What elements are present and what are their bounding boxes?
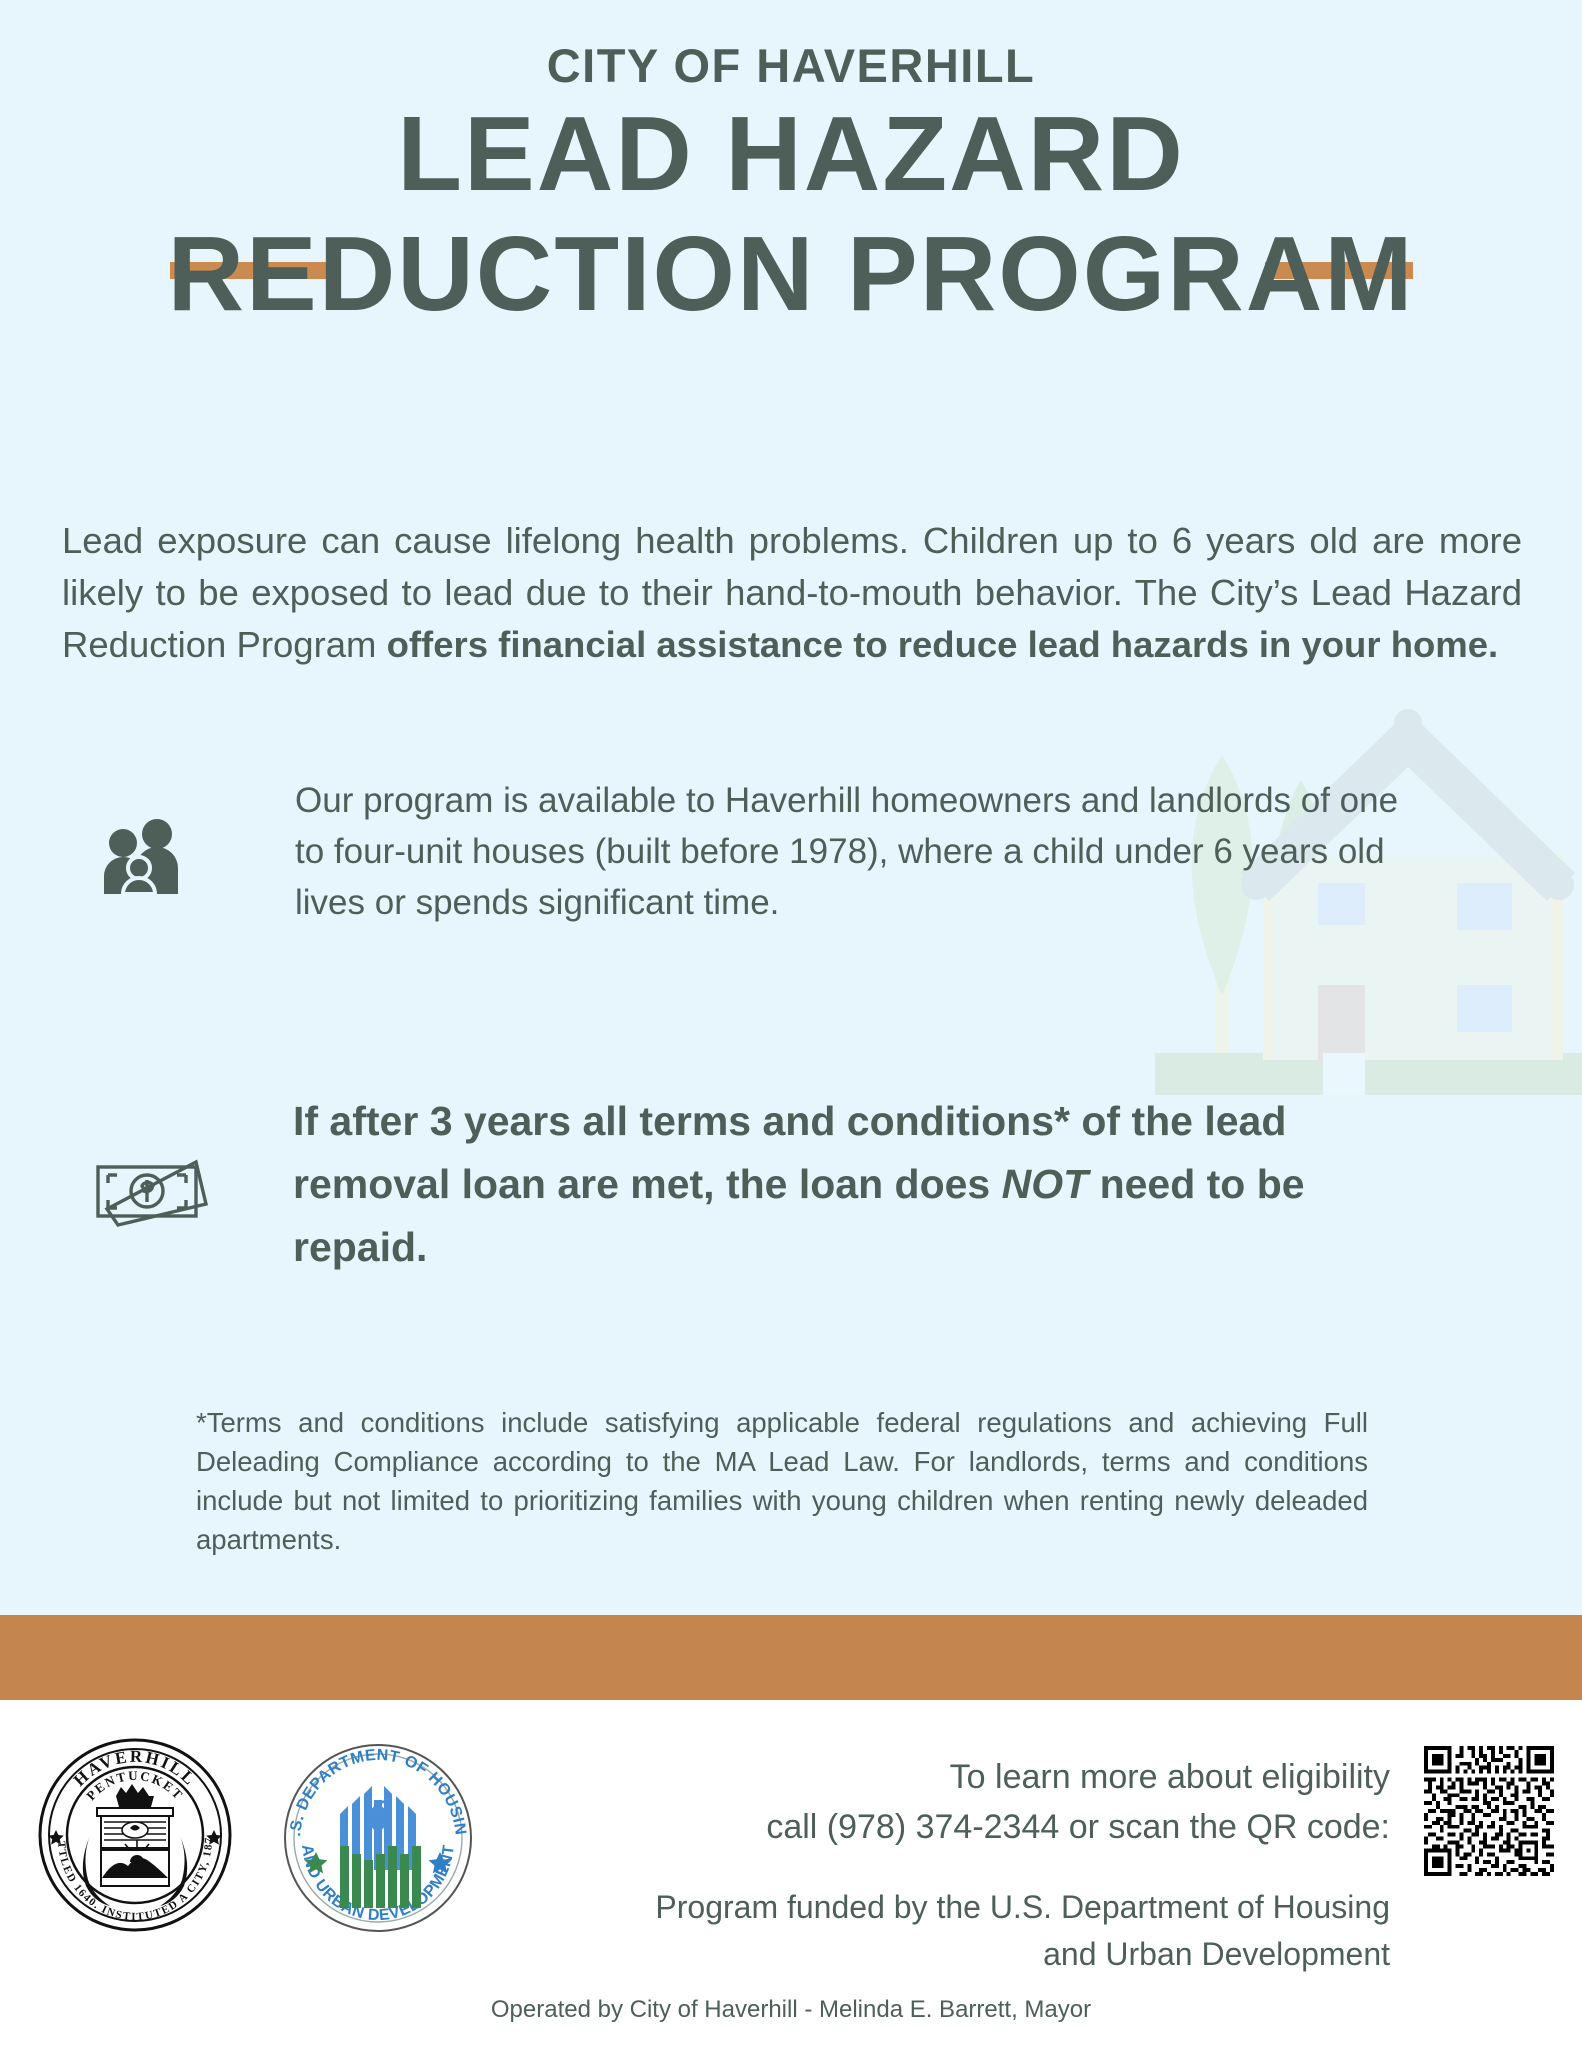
- hud-seal: U.S. DEPARTMENT OF HOUSING AND URBAN DEV…: [282, 1742, 474, 1934]
- haverhill-city-seal: HAVERHILL PENTUCKET SETTLED 1640. INSTIT…: [38, 1738, 232, 1932]
- loan-callout-text: If after 3 years all terms and condition…: [293, 1090, 1413, 1279]
- contact-line-2: call (978) 374-2344 or scan the QR code:: [500, 1802, 1390, 1852]
- funding-line-1: Program funded by the U.S. Department of…: [500, 1884, 1390, 1931]
- page-title-line2: REDUCTION PROGRAM: [0, 224, 1582, 324]
- contact-block: To learn more about eligibility call (97…: [500, 1752, 1390, 1852]
- eligibility-callout-text: Our program is available to Haverhill ho…: [295, 775, 1405, 928]
- contact-line-1: To learn more about eligibility: [500, 1752, 1390, 1802]
- qr-code[interactable]: [1424, 1746, 1554, 1876]
- family-people-icon: [98, 818, 184, 894]
- terms-fineprint: *Terms and conditions include satisfying…: [196, 1403, 1368, 1559]
- page-kicker: CITY OF HAVERHILL: [0, 38, 1582, 93]
- orange-divider-band: [0, 1615, 1582, 1700]
- funding-block: Program funded by the U.S. Department of…: [500, 1884, 1390, 1978]
- intro-bold-text: offers financial assistance to reduce le…: [387, 624, 1499, 665]
- poster-flyer: CITY OF HAVERHILL LEAD HAZARD REDUCTION …: [0, 0, 1582, 2064]
- top-panel: CITY OF HAVERHILL LEAD HAZARD REDUCTION …: [0, 0, 1582, 1615]
- intro-paragraph: Lead exposure can cause lifelong health …: [62, 515, 1522, 671]
- loan-emphasis-not: NOT: [1002, 1161, 1089, 1207]
- funding-line-2: and Urban Development: [500, 1931, 1390, 1978]
- money-cash-icon: [88, 1147, 212, 1229]
- page-title-line1: LEAD HAZARD: [0, 104, 1582, 204]
- operated-by-line: Operated by City of Haverhill - Melinda …: [0, 1996, 1582, 2024]
